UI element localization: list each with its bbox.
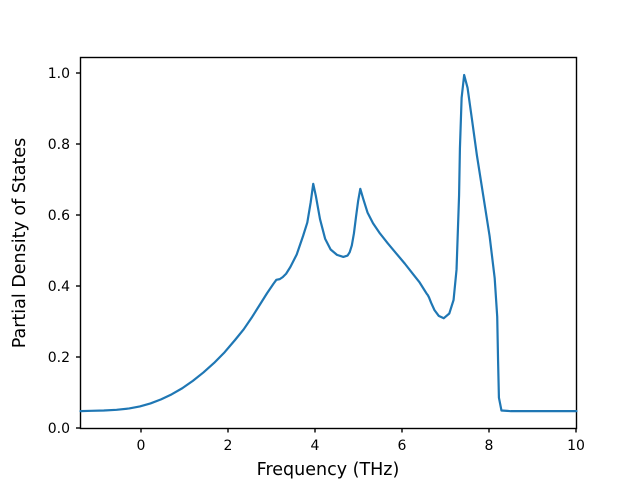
y-axis-label: Partial Density of States (10, 138, 30, 349)
y-tick-label: 0.8 (48, 137, 70, 153)
y-tick-label: 0.4 (48, 279, 70, 295)
y-tick-label: 0.2 (48, 350, 70, 366)
y-tick-label: 0.0 (48, 421, 70, 437)
y-tick-label: 0.6 (48, 208, 70, 224)
y-tick-label: 1.0 (48, 66, 70, 82)
x-tick-label: 6 (398, 438, 407, 454)
y-tick-labels: 0.0 0.2 0.4 0.6 0.8 1.0 (48, 66, 70, 437)
x-tick-label: 0 (137, 438, 146, 454)
dos-curve (81, 75, 577, 411)
x-tick-label: 2 (224, 438, 233, 454)
x-tick-label: 4 (311, 438, 320, 454)
figure-canvas: 0 2 4 6 8 10 0.0 0.2 0.4 0.6 0.8 1.0 Fre… (0, 0, 640, 480)
x-tick-label: 8 (485, 438, 494, 454)
x-axis-label: Frequency (THz) (257, 460, 400, 480)
x-tick-labels: 0 2 4 6 8 10 (137, 438, 585, 454)
chart-svg: 0 2 4 6 8 10 0.0 0.2 0.4 0.6 0.8 1.0 Fre… (0, 0, 640, 480)
x-tick-label: 10 (567, 438, 585, 454)
